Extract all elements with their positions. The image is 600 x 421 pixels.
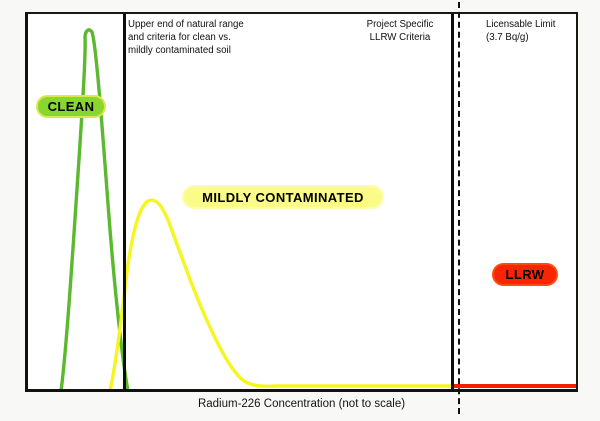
divider-licensable-limit (458, 2, 460, 414)
annotation-licensable-limit: Licensable Limit (3.7 Bq/g) (486, 18, 586, 44)
x-axis-label: Radium-226 Concentration (not to scale) (25, 398, 578, 410)
llrw-level-line (452, 384, 576, 388)
mildly-curve-path (110, 200, 452, 389)
chart-page: Volume Upper end of natural range and cr… (0, 0, 600, 421)
annotation-project-llrw-criteria: Project Specific LLRW Criteria (350, 18, 450, 44)
legend-badge-mildly-contaminated: MILDLY CONTAMINATED (182, 185, 384, 209)
divider-natural-range (123, 14, 126, 389)
legend-badge-llrw: LLRW (492, 263, 558, 286)
annotation-natural-range: Upper end of natural range and criteria … (128, 18, 298, 58)
legend-badge-clean: CLEAN (36, 95, 106, 118)
divider-project-llrw-criteria (451, 14, 454, 389)
